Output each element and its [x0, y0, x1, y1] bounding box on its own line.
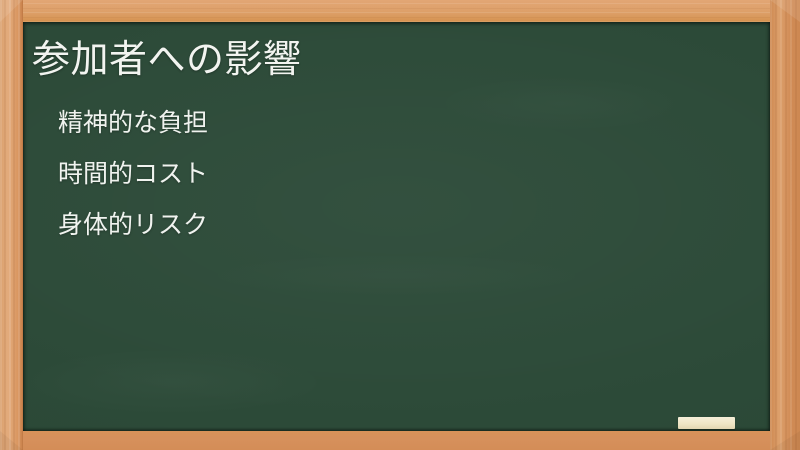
list-item: 時間的コスト: [58, 159, 718, 210]
frame-rail-top: [0, 0, 800, 22]
chalk-stick: [678, 417, 735, 429]
slide-bullet-list: 精神的な負担 時間的コスト 身体的リスク: [58, 108, 718, 261]
frame-rail-right: [770, 0, 800, 450]
chalkboard-slide: 参加者への影響 精神的な負担 時間的コスト 身体的リスク: [0, 0, 800, 450]
frame-rail-bottom: [0, 431, 800, 450]
slide-title: 参加者への影響: [32, 38, 732, 82]
list-item: 精神的な負担: [58, 108, 718, 159]
chalkboard-surface: 参加者への影響 精神的な負担 時間的コスト 身体的リスク: [23, 22, 770, 431]
frame-rail-left: [0, 0, 23, 450]
list-item: 身体的リスク: [58, 210, 718, 261]
